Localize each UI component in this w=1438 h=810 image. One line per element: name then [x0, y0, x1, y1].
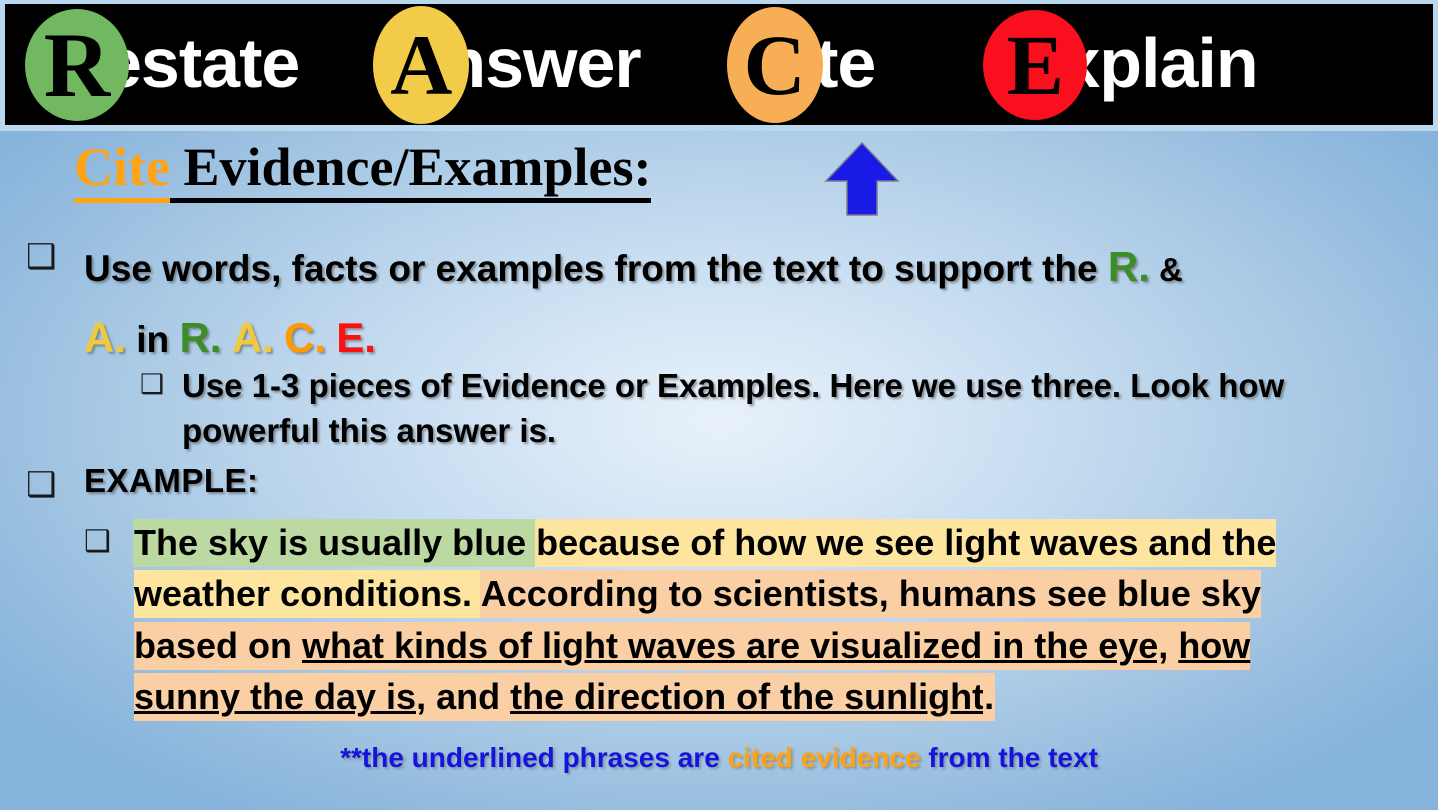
inline-race-r2: R. — [179, 314, 221, 361]
footnote-part1: **the underlined phrases are — [340, 742, 727, 773]
slide-title-row: Cite Evidence/Examples: — [74, 139, 651, 203]
race-word-explain-rest: xplain — [1061, 28, 1257, 102]
race-circle-c: C — [727, 7, 823, 123]
bullet-item-4: ❑ The sky is usually blue because of how… — [84, 517, 1384, 723]
inline-race-r1: R. — [1108, 243, 1150, 290]
bullet-2-text: Use 1-3 pieces of Evidence or Examples. … — [182, 364, 1320, 453]
bullet-marker-icon-3: ❑ — [84, 517, 134, 557]
bullet-item-2: ❑ Use 1-3 pieces of Evidence or Examples… — [140, 364, 1320, 453]
example-segment-0: The sky is usually blue — [134, 520, 536, 566]
inline-ampersand: & — [1150, 251, 1183, 288]
page-title: Cite Evidence/Examples: — [74, 139, 651, 203]
race-circle-e: E — [983, 10, 1087, 120]
example-segment-7: the direction of the sunlight — [510, 674, 984, 720]
race-word-explain: E xplain — [983, 4, 1257, 125]
title-rest-text: Evidence/Examples: — [170, 137, 652, 197]
slide-canvas: R estate A nswer C ite E xplain Cite Evi… — [0, 0, 1438, 810]
inline-in-word: in — [136, 319, 169, 360]
bullet-marker-icon: ❑ — [26, 232, 84, 274]
bullet-item-1: ❑ Use words, facts or examples from the … — [26, 232, 1426, 373]
inline-race-a1: A. — [84, 314, 126, 361]
race-word-restate: R estate — [25, 4, 299, 125]
bullet-1-lead: Use words, facts or examples from the te… — [84, 248, 1108, 289]
race-circle-a: A — [373, 6, 469, 124]
bullet-item-3: ❑ EXAMPLE: — [26, 462, 259, 502]
footnote: **the underlined phrases are cited evide… — [0, 742, 1438, 774]
footnote-part2: from the text — [921, 742, 1098, 773]
up-arrow-icon — [824, 141, 900, 217]
bullet-marker-icon-2: ❑ — [26, 462, 84, 502]
example-paragraph: The sky is usually blue because of how w… — [134, 517, 1340, 723]
race-word-restate-rest: estate — [103, 28, 299, 102]
example-label: EXAMPLE: — [84, 462, 259, 500]
footnote-emphasis: cited evidence — [728, 742, 921, 773]
race-word-cite: C ite — [727, 4, 876, 125]
bullet-1-text: Use words, facts or examples from the te… — [84, 232, 1183, 373]
inline-race-a2: A. — [232, 314, 274, 361]
inline-race-c: C. — [284, 314, 326, 361]
race-circle-r: R — [25, 9, 129, 121]
example-segment-8: . — [984, 674, 994, 720]
inline-race-e: E. — [336, 314, 376, 361]
example-segment-6: and — [426, 674, 510, 720]
example-segment-4: , — [1158, 623, 1178, 669]
race-banner: R estate A nswer C ite E xplain — [0, 0, 1438, 131]
race-word-answer: A nswer — [373, 4, 640, 125]
race-word-answer-rest: nswer — [443, 28, 640, 102]
title-cite-word: Cite — [74, 139, 170, 203]
example-segment-3: what kinds of light waves are visualized… — [302, 623, 1158, 669]
sub-bullet-marker-icon: ❑ — [140, 364, 182, 398]
